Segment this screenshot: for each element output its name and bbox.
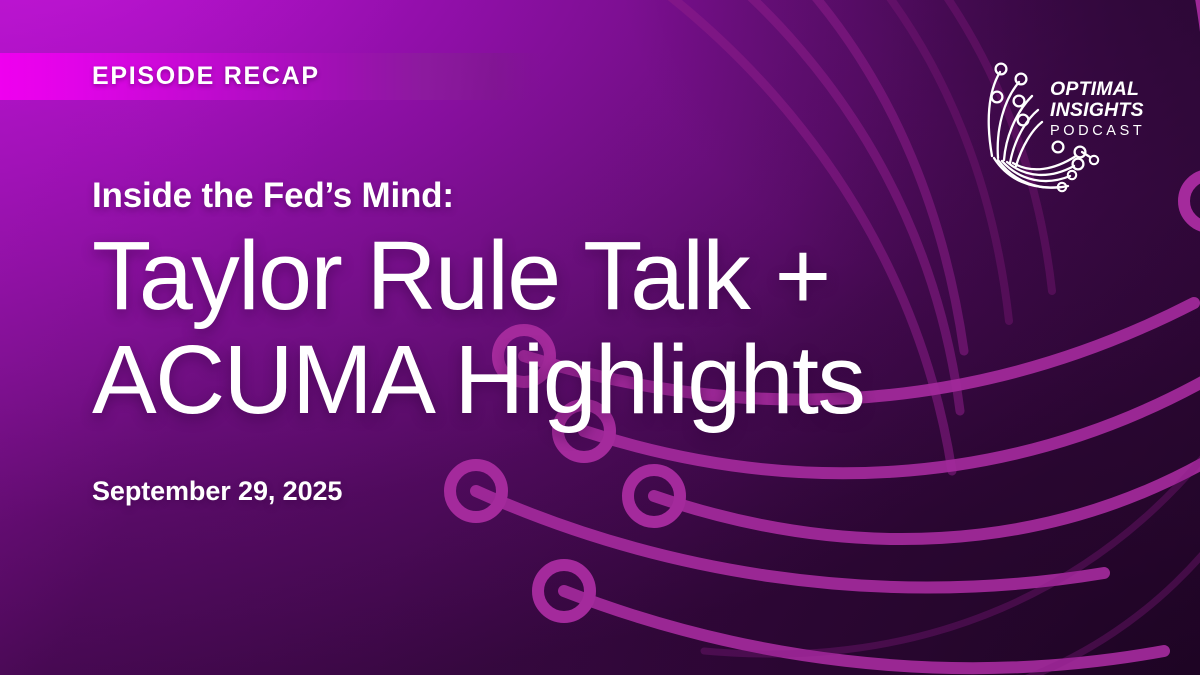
title-text-block: Inside the Fed’s Mind: Taylor Rule Talk … [92, 176, 992, 507]
episode-recap-label: EPISODE RECAP [92, 62, 320, 91]
brand-logo: OPTIMAL INSIGHTS PODCAST [974, 48, 1142, 198]
episode-date: September 29, 2025 [92, 476, 992, 507]
episode-headline: Taylor Rule Talk + ACUMA Highlights [92, 224, 992, 432]
episode-recap-banner: EPISODE RECAP [0, 53, 543, 100]
episode-eyebrow: Inside the Fed’s Mind: [92, 176, 992, 215]
headline-line-1: Taylor Rule Talk + [92, 224, 992, 328]
episode-title-card: EPISODE RECAP Inside the Fed’s Mind: Tay… [0, 0, 1200, 675]
headline-line-2: ACUMA Highlights [92, 328, 992, 432]
